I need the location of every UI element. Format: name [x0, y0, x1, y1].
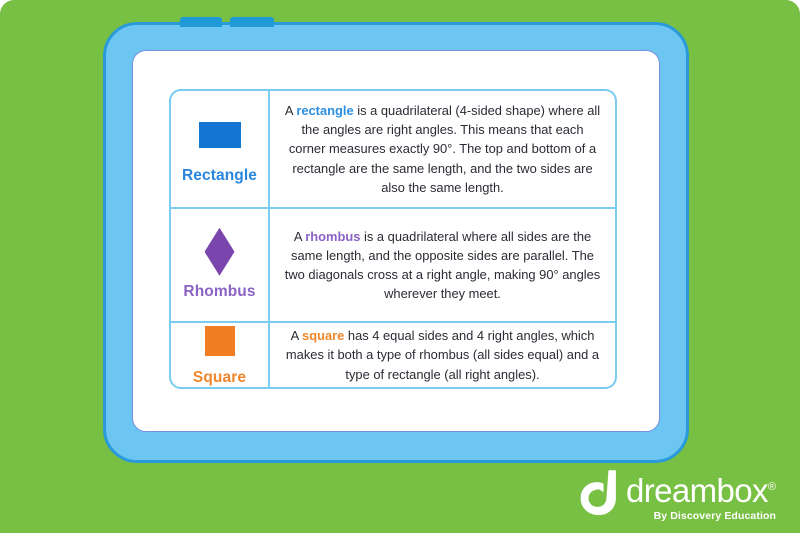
slide-canvas: Rectangle A rectangle is a quadrilateral… — [0, 0, 800, 533]
blue-rectangle-icon — [199, 122, 241, 148]
description-text-square: A square has 4 equal sides and 4 right a… — [284, 326, 601, 383]
shape-glyph-wrap — [205, 229, 235, 273]
desc-prefix: A — [294, 229, 305, 244]
registered-trademark-icon: ® — [768, 481, 776, 493]
table-row: Rectangle A rectangle is a quadrilateral… — [171, 91, 615, 209]
shape-cell-square: Square — [171, 323, 270, 387]
logo-wordmark-text: dreambox — [626, 472, 768, 509]
keyword-rectangle: rectangle — [296, 103, 353, 118]
desc-prefix: A — [285, 103, 296, 118]
tablet-screen: Rectangle A rectangle is a quadrilateral… — [132, 50, 660, 432]
table-row: Square A square has 4 equal sides and 4 … — [171, 323, 615, 387]
tablet-frame: Rectangle A rectangle is a quadrilateral… — [103, 22, 689, 463]
shape-glyph-wrap — [199, 113, 241, 157]
description-cell-rectangle: A rectangle is a quadrilateral (4-sided … — [270, 91, 615, 207]
description-text-rectangle: A rectangle is a quadrilateral (4-sided … — [284, 101, 601, 196]
shape-label-rectangle: Rectangle — [182, 168, 257, 184]
description-cell-rhombus: A rhombus is a quadrilateral where all s… — [270, 209, 615, 321]
tablet-top-button-right[interactable] — [230, 17, 274, 27]
orange-square-icon — [205, 326, 235, 356]
shape-cell-rhombus: Rhombus — [171, 209, 270, 321]
shape-label-square: Square — [193, 370, 246, 386]
quadrilaterals-table: Rectangle A rectangle is a quadrilateral… — [169, 89, 617, 389]
shape-label-rhombus: Rhombus — [183, 284, 255, 300]
shape-cell-rectangle: Rectangle — [171, 91, 270, 207]
logo-tagline: By Discovery Education — [654, 511, 776, 522]
dreambox-d-swirl-icon — [576, 468, 620, 516]
purple-rhombus-icon — [205, 228, 235, 276]
shape-glyph-wrap — [205, 323, 235, 359]
keyword-rhombus: rhombus — [305, 229, 360, 244]
keyword-square: square — [302, 328, 344, 343]
logo-text-block: dreambox® By Discovery Education — [626, 468, 776, 522]
table-row: Rhombus A rhombus is a quadrilateral whe… — [171, 209, 615, 323]
description-cell-square: A square has 4 equal sides and 4 right a… — [270, 323, 615, 387]
logo-wordmark: dreambox® — [626, 474, 776, 507]
desc-prefix: A — [291, 328, 302, 343]
tablet-top-button-left[interactable] — [180, 17, 222, 27]
description-text-rhombus: A rhombus is a quadrilateral where all s… — [284, 227, 601, 303]
dreambox-logo: dreambox® By Discovery Education — [576, 468, 776, 522]
